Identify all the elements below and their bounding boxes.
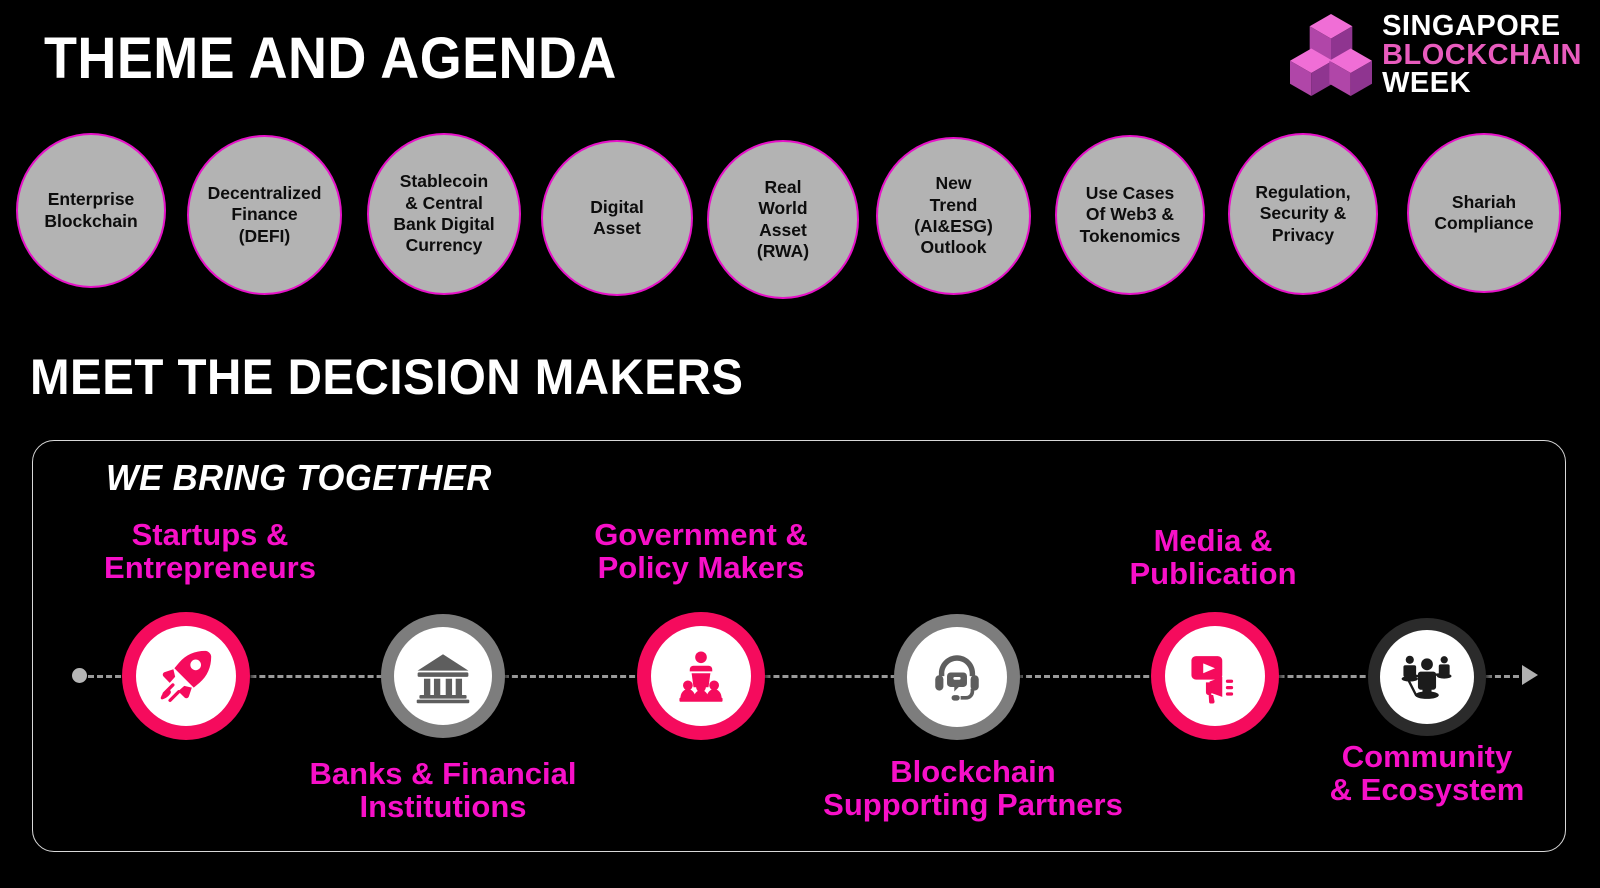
node-ring-pink[interactable]: [1151, 612, 1279, 740]
bank-icon: [414, 647, 472, 705]
logo-wordmark: SINGAPORE BLOCKCHAIN WEEK: [1382, 12, 1582, 97]
theme-bubble-label: Digital Asset: [590, 197, 643, 240]
theme-bubble-label: Real World Asset (RWA): [757, 177, 809, 262]
node-label-startups-entrepreneurs: Startups & Entrepreneurs: [40, 518, 380, 584]
theme-bubble-label: New Trend (AI&ESG) Outlook: [914, 173, 993, 258]
theme-bubble-use-cases-web3[interactable]: Use Cases Of Web3 & Tokenomics: [1055, 135, 1205, 295]
brand-logo: SINGAPORE BLOCKCHAIN WEEK: [1290, 12, 1582, 98]
panel-subtitle: WE BRING TOGETHER: [106, 457, 492, 499]
node-ring-pink[interactable]: [122, 612, 250, 740]
theme-bubble-digital-asset[interactable]: Digital Asset: [541, 140, 693, 296]
theme-bubble-label: Use Cases Of Web3 & Tokenomics: [1080, 183, 1181, 247]
theme-bubble-stablecoin-cbdc[interactable]: Stablecoin & Central Bank Digital Curren…: [367, 133, 521, 295]
theme-bubble-regulation-security-privacy[interactable]: Regulation, Security & Privacy: [1228, 133, 1378, 295]
node-ring-gray[interactable]: [381, 614, 505, 738]
isometric-cubes-icon: [1290, 12, 1372, 98]
theme-bubble-shariah-compliance[interactable]: Shariah Compliance: [1407, 133, 1561, 293]
timeline-start-dot: [72, 668, 87, 683]
timeline-dashed-line: [88, 675, 1528, 678]
theme-bubble-label: Decentralized Finance (DEFI): [208, 183, 322, 247]
theme-bubble-new-trend-ai-esg[interactable]: New Trend (AI&ESG) Outlook: [876, 137, 1031, 295]
theme-bubble-real-world-asset[interactable]: Real World Asset (RWA): [707, 140, 859, 299]
slide-canvas: THEME AND AGENDA SINGAPORE BLOCKCHAIN WE…: [0, 0, 1600, 888]
section-title-decision-makers: MEET THE DECISION MAKERS: [30, 352, 743, 402]
theme-bubble-decentralized-finance[interactable]: Decentralized Finance (DEFI): [187, 135, 342, 295]
theme-bubble-label: Stablecoin & Central Bank Digital Curren…: [393, 171, 494, 256]
node-ring-gray[interactable]: [894, 614, 1020, 740]
theme-bubble-label: Regulation, Security & Privacy: [1255, 182, 1350, 246]
theme-bubble-enterprise-blockchain[interactable]: Enterprise Blockchain: [16, 133, 166, 288]
podium-speaker-icon: [671, 646, 731, 706]
logo-line-blockchain: BLOCKCHAIN: [1382, 41, 1582, 69]
node-ring-pink[interactable]: [637, 612, 765, 740]
theme-bubble-label: Shariah Compliance: [1434, 192, 1533, 235]
node-label-banks-financial-institutions: Banks & Financial Institutions: [273, 757, 613, 823]
node-label-community-ecosystem: Community & Ecosystem: [1257, 740, 1597, 806]
node-label-blockchain-supporting-partners: Blockchain Supporting Partners: [803, 755, 1143, 821]
timeline-arrow-icon: [1522, 665, 1538, 685]
page-title: THEME AND AGENDA: [44, 30, 617, 88]
node-ring-dark[interactable]: [1368, 618, 1486, 736]
headset-support-icon: [928, 648, 986, 706]
logo-line-week: WEEK: [1382, 69, 1582, 97]
people-network-icon: [1398, 648, 1456, 706]
node-label-media-publication: Media & Publication: [1043, 524, 1383, 590]
video-megaphone-icon: [1186, 647, 1244, 705]
logo-line-singapore: SINGAPORE: [1382, 12, 1582, 40]
theme-bubble-row: Enterprise Blockchain Decentralized Fina…: [0, 125, 1600, 290]
rocket-icon: [155, 645, 217, 707]
node-label-government-policy-makers: Government & Policy Makers: [531, 518, 871, 584]
theme-bubble-label: Enterprise Blockchain: [44, 189, 137, 232]
